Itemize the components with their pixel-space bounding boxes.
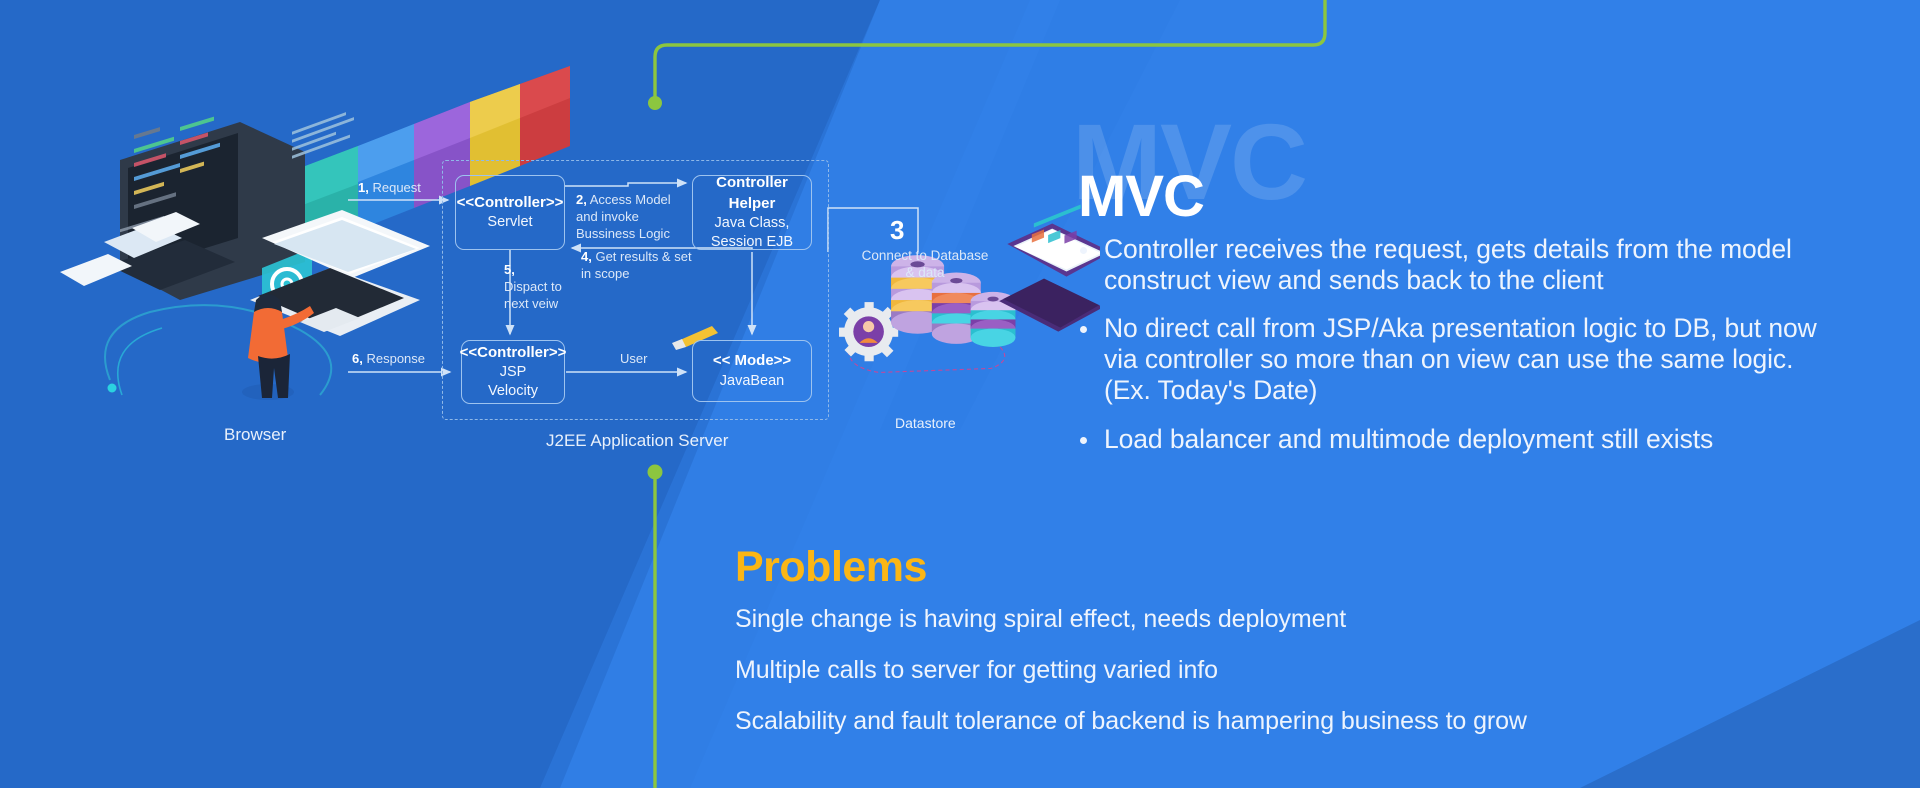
problems-list: Single change is having spiral effect, n… [735,607,1735,760]
step-6-number: 6, [352,351,363,366]
box-servlet-line2: Servlet [487,213,532,232]
step-5-number: 5, [504,262,515,277]
problems-list-item: Multiple calls to server for getting var… [735,658,1735,683]
box-jsp-line3: Velocity [488,382,538,401]
step-1-request: 1, Request [358,180,421,197]
step-2-access-model: 2, Access Model and invoke Bussiness Log… [576,192,694,243]
browser-label: Browser [224,425,286,445]
box-servlet-line1: <<Controller>> [457,193,564,213]
box-jsp-line2: JSP [500,363,527,382]
mvc-bullet-list: Controller receives the request, gets de… [1078,234,1838,472]
box-servlet: <<Controller>> Servlet [455,175,565,250]
slide-root: <<Controller>> Servlet Controller Helper… [0,0,1920,788]
step-2-text: Access Model and invoke Bussiness Logic [576,192,671,241]
step-4-number: 4, [581,249,592,264]
step-2-number: 2, [576,192,587,207]
problems-list-item: Single change is having spiral effect, n… [735,607,1735,632]
mvc-bullet-item: No direct call from JSP/Aka presentation… [1078,313,1838,405]
step-user-label: User [620,351,647,368]
box-controller-helper: Controller Helper Java Class, Session EJ… [692,175,812,250]
box-helper-line2: Java Class, [715,214,790,233]
problems-title: Problems [735,543,927,592]
step-4-text: Get results & set in scope [581,249,692,281]
user-text: User [620,351,647,366]
step-4-get-results: 4, Get results & set in scope [581,249,699,283]
j2ee-server-label: J2EE Application Server [546,431,728,451]
mvc-bullet-item: Load balancer and multimode deployment s… [1078,424,1838,455]
mvc-bullet-item: Controller receives the request, gets de… [1078,234,1838,295]
box-helper-line3: Session EJB [711,233,793,252]
step-6-response: 6, Response [352,351,425,368]
box-mode-line1: << Mode>> [713,351,791,371]
step-5-dispatch: 5, Dispact to next veiw [504,262,574,313]
box-helper-line1: Controller Helper [693,173,811,214]
step-6-text: Response [366,351,425,366]
step-3-text: Connect to Database & data [860,248,990,282]
step-1-number: 1, [358,180,369,195]
datastore-illustration [839,204,1100,372]
box-model-javabean: << Mode>> JavaBean [692,340,812,402]
mvc-title: MVC [1078,168,1204,226]
step-5-text: Dispact to next veiw [504,279,562,311]
problems-list-item: Scalability and fault tolerance of backe… [735,709,1735,734]
step-1-text: Request [372,180,420,195]
box-mode-line2: JavaBean [720,372,785,391]
box-jsp-line1: <<Controller>> [460,343,567,363]
datastore-label: Datastore [895,415,956,431]
box-jsp-controller: <<Controller>> JSP Velocity [461,340,565,404]
step-3-number: 3 [890,215,904,246]
